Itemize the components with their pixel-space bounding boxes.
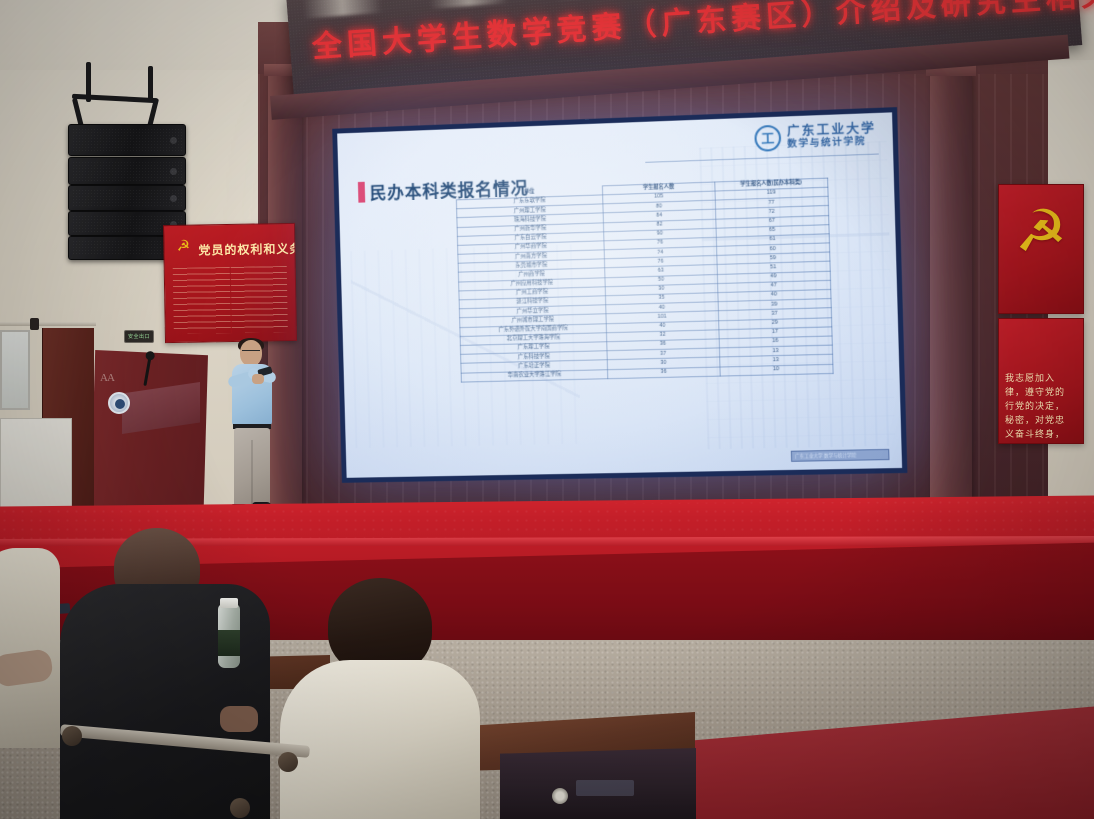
presenter	[222, 340, 282, 520]
exit-sign-label: 安全出口	[128, 333, 150, 340]
hammer-sickle-icon: ☭	[172, 238, 194, 256]
presenter-hand	[252, 374, 264, 384]
stage-pillar-right	[930, 74, 972, 504]
slide-logo: 工 广东工业大学 数学与统计学院	[754, 121, 876, 152]
registration-table: 单位学生报名人数学生报名人数(民办本科类) 广东东软学院105119广州理工学院…	[456, 178, 834, 383]
title-accent-bar	[358, 182, 365, 203]
hammer-sickle-icon: ☭	[1015, 203, 1067, 261]
wall-whiteboard	[0, 330, 30, 410]
oath-line-5: 义奋斗终身，	[1005, 427, 1077, 440]
slide-footer-watermark: 广东工业大学 数学与统计学院	[791, 449, 890, 462]
door-roller	[30, 318, 39, 330]
projection-screen: 工 广东工业大学 数学与统计学院 民办本科类报名情况 单位学生报名人数学生报名人…	[332, 107, 907, 483]
slide-surface: 工 广东工业大学 数学与统计学院 民办本科类报名情况 单位学生报名人数学生报名人…	[337, 112, 902, 477]
oath-line-4: 秘密，对党忠	[1005, 413, 1077, 426]
chair-knob-right	[278, 752, 298, 772]
poster-title: 党员的权利和义务	[198, 240, 297, 259]
audience-member-white-shirt	[272, 578, 542, 819]
exit-sign: 安全出口	[124, 330, 154, 343]
water-bottle-label	[218, 630, 240, 656]
presenter-trousers	[234, 428, 270, 506]
poster-party-rights-duties: ☭ 党员的权利和义务	[163, 223, 297, 343]
door-rail	[0, 322, 96, 326]
desk-cabinet-plate	[576, 780, 634, 796]
cell-total-registrants: 36	[608, 367, 720, 379]
podium-logo-letters: AA	[100, 372, 114, 384]
poster-party-oath: 我志愿加入 律，遵守党的 行党的决定， 秘密，对党忠 义奋斗终身，	[998, 318, 1084, 444]
desk-cabinet-latch	[552, 788, 568, 804]
lecture-hall-photo: 全国大学生数学竞赛（广东赛区）介绍及研究生相关经验分享 ☭ 党员的权利和义务 ☭…	[0, 0, 1094, 819]
audience-member-black-jacket	[60, 528, 260, 819]
gdut-logo-icon: 工	[754, 125, 781, 152]
glasses-icon	[242, 350, 260, 354]
oath-line-1: 我志愿加入	[1005, 371, 1077, 384]
cell-private-undergrad-registrants: 10	[720, 364, 833, 376]
chair-knob-left	[62, 726, 82, 746]
oath-line-2: 律，遵守党的	[1005, 385, 1077, 398]
oath-line-3: 行党的决定，	[1005, 399, 1077, 412]
poster-party-flag: ☭	[998, 184, 1084, 314]
chair-knob-bottom	[230, 798, 250, 818]
footer-note: 广东工业大学 数学与统计学院	[795, 452, 856, 459]
circular-seal-icon	[108, 392, 130, 414]
water-bottle-cap	[220, 598, 238, 608]
